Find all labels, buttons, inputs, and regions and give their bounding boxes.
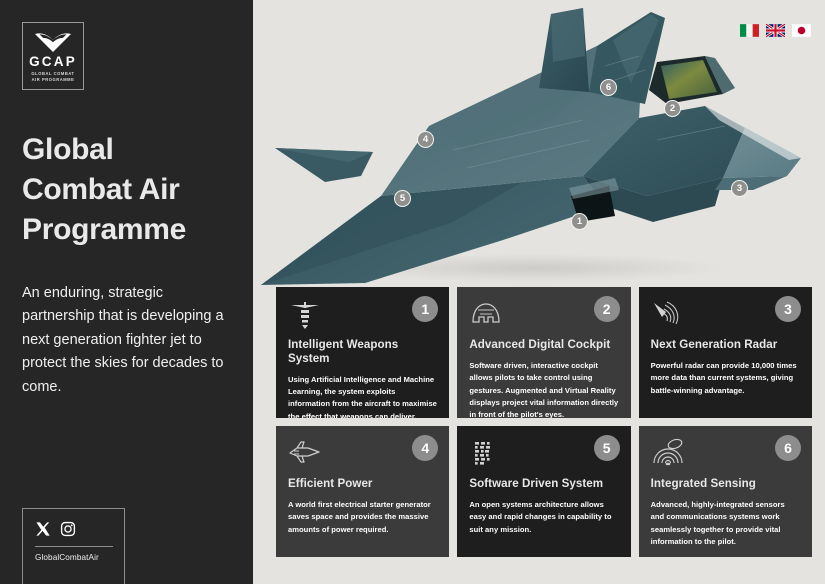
card-title-1: Intelligent Weapons System (288, 338, 437, 366)
japan-flag (792, 24, 811, 37)
hero-marker-3[interactable]: 3 (731, 180, 748, 197)
gcap-logo: GCAP GLOBAL COMBAT AIR PROGRAMME (22, 22, 84, 90)
hero-marker-1[interactable]: 1 (571, 213, 588, 230)
card-body-1: Using Artificial Intelligence and Machin… (288, 374, 437, 418)
social-links: GlobalCombatAir (22, 508, 125, 584)
x-twitter-icon[interactable] (35, 521, 51, 537)
card-badge-3: 3 (775, 296, 801, 322)
fighter-jet-illustration (253, 0, 825, 290)
hero-marker-2[interactable]: 2 (664, 100, 681, 117)
card-badge-2: 2 (594, 296, 620, 322)
card-title-2: Advanced Digital Cockpit (469, 338, 618, 352)
hero-marker-6[interactable]: 6 (600, 79, 617, 96)
card-body-2: Software driven, interactive cockpit all… (469, 360, 618, 418)
chevron-wing-icon (33, 31, 73, 53)
page-title: Global Combat Air Programme (22, 130, 231, 250)
card-body-5: An open systems architecture allows easy… (469, 499, 618, 536)
partner-flags (740, 24, 811, 37)
united-kingdom-flag (766, 24, 785, 37)
feature-card-next-generation-radar[interactable]: 3 Next Generation Radar Powerful radar c… (639, 287, 812, 418)
social-handle: GlobalCombatAir (35, 553, 112, 562)
hero-section: 1 2 3 4 5 6 (253, 0, 825, 290)
card-body-4: A world first electrical starter generat… (288, 499, 437, 536)
card-title-3: Next Generation Radar (651, 338, 800, 352)
feature-card-software-driven-system[interactable]: 5 Software Driven System An open systems… (457, 426, 630, 557)
feature-card-advanced-digital-cockpit[interactable]: 2 Advanced Digital Cockpit Software driv… (457, 287, 630, 418)
card-body-6: Advanced, highly-integrated sensors and … (651, 499, 800, 548)
social-icon-row (35, 521, 112, 537)
instagram-icon[interactable] (60, 521, 76, 537)
feature-card-integrated-sensing[interactable]: 6 Integrated Sensing Advanced, highly-in… (639, 426, 812, 557)
card-title-6: Integrated Sensing (651, 477, 800, 491)
logo-subtitle: GLOBAL COMBAT AIR PROGRAMME (31, 71, 74, 83)
feature-card-grid: 1 Intelligent Weapons System Using Artif… (276, 287, 812, 557)
logo-wordmark: GCAP (29, 55, 77, 69)
hero-marker-5[interactable]: 5 (394, 190, 411, 207)
hero-marker-4[interactable]: 4 (417, 131, 434, 148)
feature-card-intelligent-weapons-system[interactable]: 1 Intelligent Weapons System Using Artif… (276, 287, 449, 418)
card-badge-6: 6 (775, 435, 801, 461)
sidebar: GCAP GLOBAL COMBAT AIR PROGRAMME Global … (0, 0, 253, 584)
feature-card-efficient-power[interactable]: 4 Efficient Power A world first electric… (276, 426, 449, 557)
card-badge-5: 5 (594, 435, 620, 461)
page-subtitle: An enduring, strategic partnership that … (22, 282, 231, 399)
italy-flag (740, 24, 759, 37)
card-title-4: Efficient Power (288, 477, 437, 491)
card-body-3: Powerful radar can provide 10,000 times … (651, 360, 800, 397)
card-title-5: Software Driven System (469, 477, 618, 491)
logo-subtitle-line2: AIR PROGRAMME (31, 77, 74, 83)
social-divider (35, 546, 113, 547)
infographic-page: GCAP GLOBAL COMBAT AIR PROGRAMME Global … (0, 0, 825, 584)
